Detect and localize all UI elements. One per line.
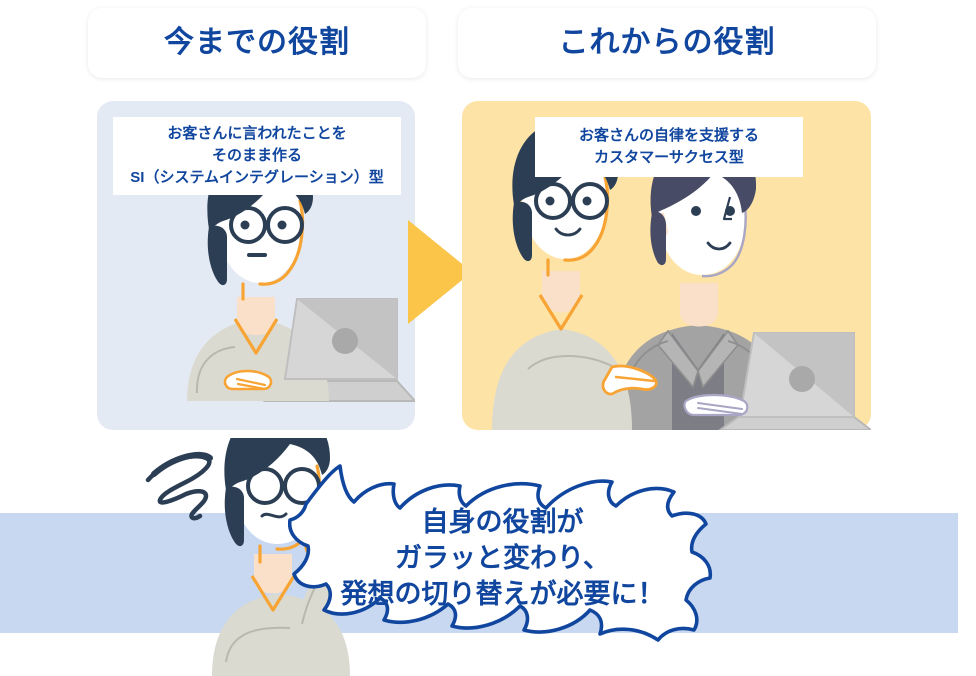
caption-right-line-1: お客さんの自律を支援する (579, 125, 759, 147)
speech-bubble-text: 自身の役割が ガラッと変わり、 発想の切り替えが必要に！ (330, 505, 675, 613)
infographic-canvas: お客さんに言われたことを そのまま作る SI（システムインテグレーション）型 (0, 0, 976, 676)
header-future-role: これからの役割 (458, 8, 876, 78)
caption-current-role: お客さんに言われたことを そのまま作る SI（システムインテグレーション）型 (113, 117, 401, 195)
bubble-line-3: 発想の切り替えが必要に！ (330, 577, 675, 613)
caption-future-role: お客さんの自律を支援する カスタマーサクセス型 (535, 117, 803, 177)
bubble-line-2: ガラッと変わり、 (330, 541, 675, 577)
header-current-role: 今までの役割 (88, 8, 426, 78)
header-current-role-label: 今までの役割 (164, 28, 350, 58)
caption-left-line-1: お客さんに言われたことを (167, 123, 346, 145)
caption-left-line-3: SI（システムインテグレーション）型 (130, 167, 383, 189)
caption-left-line-2: そのまま作る (212, 145, 302, 167)
caption-right-line-2: カスタマーサクセス型 (594, 147, 744, 169)
bubble-line-1: 自身の役割が (330, 505, 675, 541)
header-future-role-label: これからの役割 (559, 28, 776, 58)
